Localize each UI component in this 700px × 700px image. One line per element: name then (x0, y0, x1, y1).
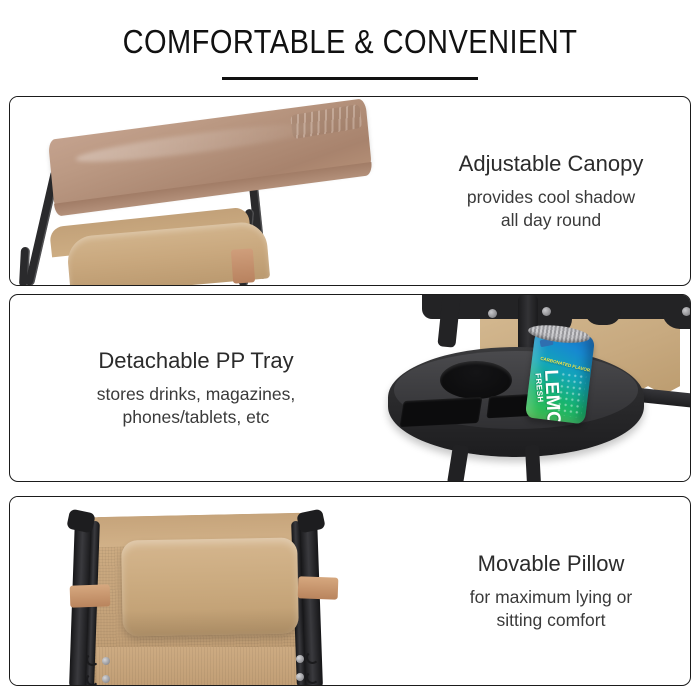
feature-description-line-1: provides cool shadow (467, 186, 635, 209)
bungee-lace (306, 651, 319, 664)
chair-seat-lower-fabric (96, 647, 302, 685)
title-underline-rule (222, 77, 478, 80)
soda-can: FRESH LEMON CARBONATED FLAVOR SOFT DRINK (525, 330, 595, 425)
tray-cup-holder (440, 361, 512, 399)
pillow-shadow (122, 607, 298, 636)
bolt-head (542, 307, 551, 316)
tray-support-leg (525, 445, 541, 481)
pillow-strap-left (70, 584, 111, 607)
bungee-lace (306, 671, 319, 684)
feature-description-line-2: phones/tablets, etc (97, 406, 295, 429)
fabric-grommet (102, 657, 110, 665)
bungee-lace (86, 653, 99, 666)
canopy-shade-fabric (48, 98, 372, 211)
page-header: COMFORTABLE & CONVENIENT (0, 0, 700, 95)
feature-description-line-2: all day round (467, 209, 635, 232)
feature-panel-adjustable-canopy: Adjustable Canopy provides cool shadow a… (9, 96, 691, 286)
feature-description: for maximum lying or sitting comfort (470, 586, 632, 632)
feature-photo-detachable-pp-tray: FRESH LEMON CARBONATED FLAVOR SOFT DRINK (370, 295, 690, 481)
tray-storage-slot (400, 397, 483, 427)
feature-description-line-1: stores drinks, magazines, (97, 383, 295, 406)
feature-title: Adjustable Canopy (459, 150, 644, 177)
can-label-lemon: LEMON (539, 369, 565, 424)
bungee-lace (86, 673, 99, 685)
feature-panel-detachable-pp-tray: Detachable PP Tray stores drinks, magazi… (9, 294, 691, 482)
leather-strap (231, 248, 255, 283)
pp-tray (388, 347, 644, 457)
fabric-grommet (102, 675, 110, 683)
feature-photo-adjustable-canopy (10, 97, 410, 285)
feature-panel-movable-pillow: Movable Pillow for maximum lying or sitt… (9, 496, 691, 686)
canopy-seam-ribs (290, 104, 362, 139)
feature-description-line-2: sitting comfort (470, 609, 632, 632)
pillow-strap-right (298, 576, 339, 599)
fabric-grommet (296, 673, 304, 681)
feature-title: Movable Pillow (478, 550, 625, 577)
feature-description: provides cool shadow all day round (467, 186, 635, 232)
feature-description-line-1: for maximum lying or (470, 586, 632, 609)
feature-text-movable-pillow: Movable Pillow for maximum lying or sitt… (410, 497, 691, 685)
feature-text-detachable-pp-tray: Detachable PP Tray stores drinks, magazi… (10, 295, 382, 481)
frame-end-cap-left (66, 509, 96, 534)
frame-end-cap-right (296, 509, 326, 534)
bolt-head (488, 309, 497, 318)
page-title: COMFORTABLE & CONVENIENT (42, 22, 658, 62)
armrest-bracket-left (437, 295, 460, 348)
canopy-highlight (75, 117, 324, 168)
movable-pillow (121, 537, 299, 636)
feature-title: Detachable PP Tray (98, 347, 293, 374)
feature-text-adjustable-canopy: Adjustable Canopy provides cool shadow a… (410, 97, 691, 285)
feature-photo-movable-pillow (10, 497, 410, 685)
feature-description: stores drinks, magazines, phones/tablets… (97, 383, 295, 429)
fabric-grommet (296, 655, 304, 663)
armrest-pivot-hub (585, 295, 621, 325)
bolt-head (682, 307, 690, 316)
